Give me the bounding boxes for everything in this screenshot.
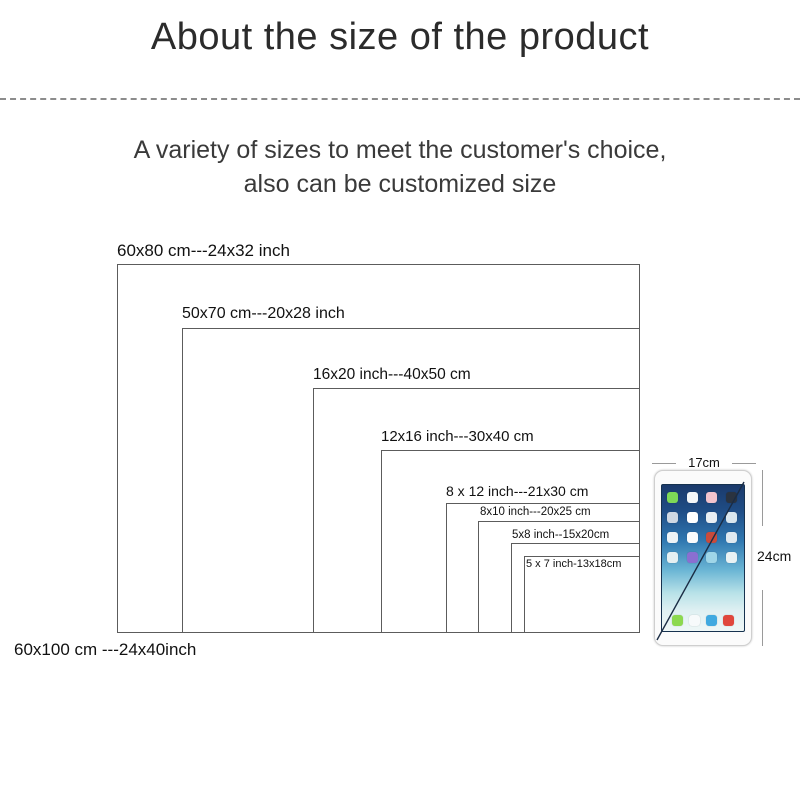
size-label-50x70: 50x70 cm---20x28 inch	[182, 306, 345, 322]
app-icon	[726, 492, 737, 503]
app-icon	[706, 512, 717, 523]
app-icon	[726, 532, 737, 543]
app-icon	[667, 552, 678, 563]
tablet-screen	[661, 484, 745, 632]
size-label-8x10: 8x10 inch---20x25 cm	[480, 507, 591, 519]
dimension-line-top	[762, 470, 763, 526]
dimension-line-bottom	[762, 590, 763, 646]
app-icon	[687, 492, 698, 503]
subtitle-line-2: also can be customized size	[0, 167, 800, 201]
size-label-60x80: 60x80 cm---24x32 inch	[117, 242, 290, 259]
subtitle-line-1: A variety of sizes to meet the customer'…	[134, 136, 667, 164]
app-icon-grid	[667, 492, 739, 565]
app-icon	[667, 492, 678, 503]
header-divider	[0, 98, 800, 100]
tablet-height-dimension: 24cm	[756, 470, 800, 646]
app-icon	[706, 532, 717, 543]
size-label-12x16: 12x16 inch---30x40 cm	[381, 429, 534, 444]
page-subtitle: A variety of sizes to meet the customer'…	[0, 133, 800, 201]
app-icon	[687, 552, 698, 563]
app-icon	[687, 512, 698, 523]
size-chart-page: About the size of the product A variety …	[0, 0, 800, 800]
size-label-60x100: 60x100 cm ---24x40inch	[14, 640, 196, 660]
tablet-reference-object	[654, 470, 752, 646]
dock-icon	[706, 615, 717, 626]
tablet-body	[654, 470, 752, 646]
app-icon	[726, 512, 737, 523]
app-icon	[726, 552, 737, 563]
size-label-5x8: 5x8 inch--15x20cm	[512, 530, 609, 542]
app-dock	[672, 615, 734, 626]
dock-icon	[689, 615, 700, 626]
app-icon	[706, 492, 717, 503]
app-icon	[706, 552, 717, 563]
dock-icon	[723, 615, 734, 626]
app-icon	[667, 512, 678, 523]
size-label-16x20: 16x20 inch---40x50 cm	[313, 367, 471, 383]
tablet-height-label: 24cm	[756, 548, 800, 564]
app-icon	[687, 532, 698, 543]
dock-icon	[672, 615, 683, 626]
app-icon	[667, 532, 678, 543]
page-title: About the size of the product	[0, 16, 800, 59]
size-label-8x12: 8 x 12 inch---21x30 cm	[446, 484, 588, 498]
size-label-5x7: 5 x 7 inch-13x18cm	[526, 559, 621, 570]
